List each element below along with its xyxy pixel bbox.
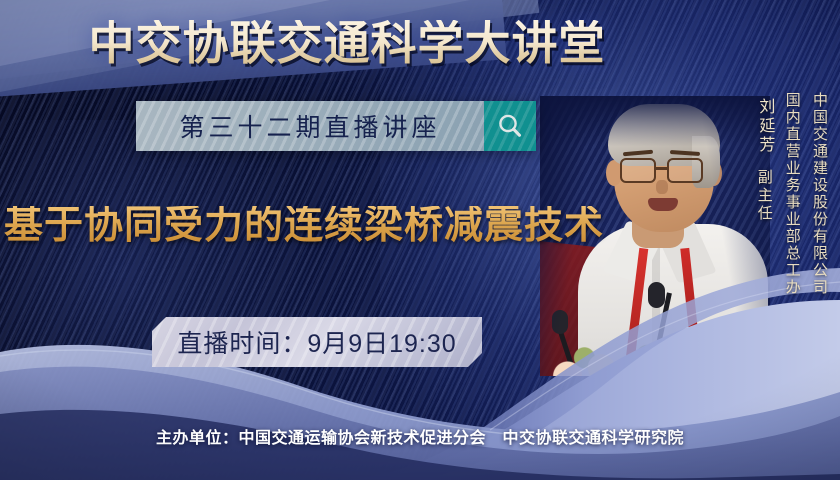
speaker-department: 国内直营业务事业部总工办 xyxy=(781,92,802,296)
broadcast-time-plate: 直播时间：9月9日19:30 xyxy=(152,317,482,367)
broadcast-time-text: 直播时间：9月9日19:30 xyxy=(177,324,456,360)
speaker-identity: 刘延芳 副主任 xyxy=(753,92,776,223)
episode-label: 第三十二期直播讲座 xyxy=(179,108,440,144)
lecture-topic: 基于协同受力的连续梁桥减震技术 xyxy=(0,206,840,245)
speaker-company: 中国交通建设股份有限公司 xyxy=(809,92,830,296)
organizers-line: 主办单位：中国交通运输协会新技术促进分会 中交协联交通科学研究院 xyxy=(0,424,840,448)
live-lecture-poster: 中交协联交通科学大讲堂 第三十二期直播讲座 基于协同受力的连续梁桥减震技术 直播… xyxy=(0,0,840,480)
page-title: 中交协联交通科学大讲堂 xyxy=(0,20,840,66)
search-icon[interactable] xyxy=(484,101,536,151)
speaker-name: 刘延芳 xyxy=(753,98,776,155)
episode-banner[interactable]: 第三十二期直播讲座 xyxy=(136,101,536,151)
speaker-credits: 中国交通建设股份有限公司 国内直营业务事业部总工办 刘延芳 副主任 xyxy=(753,92,830,296)
episode-banner-body: 第三十二期直播讲座 xyxy=(136,101,484,151)
speaker-role: 副主任 xyxy=(753,169,774,223)
